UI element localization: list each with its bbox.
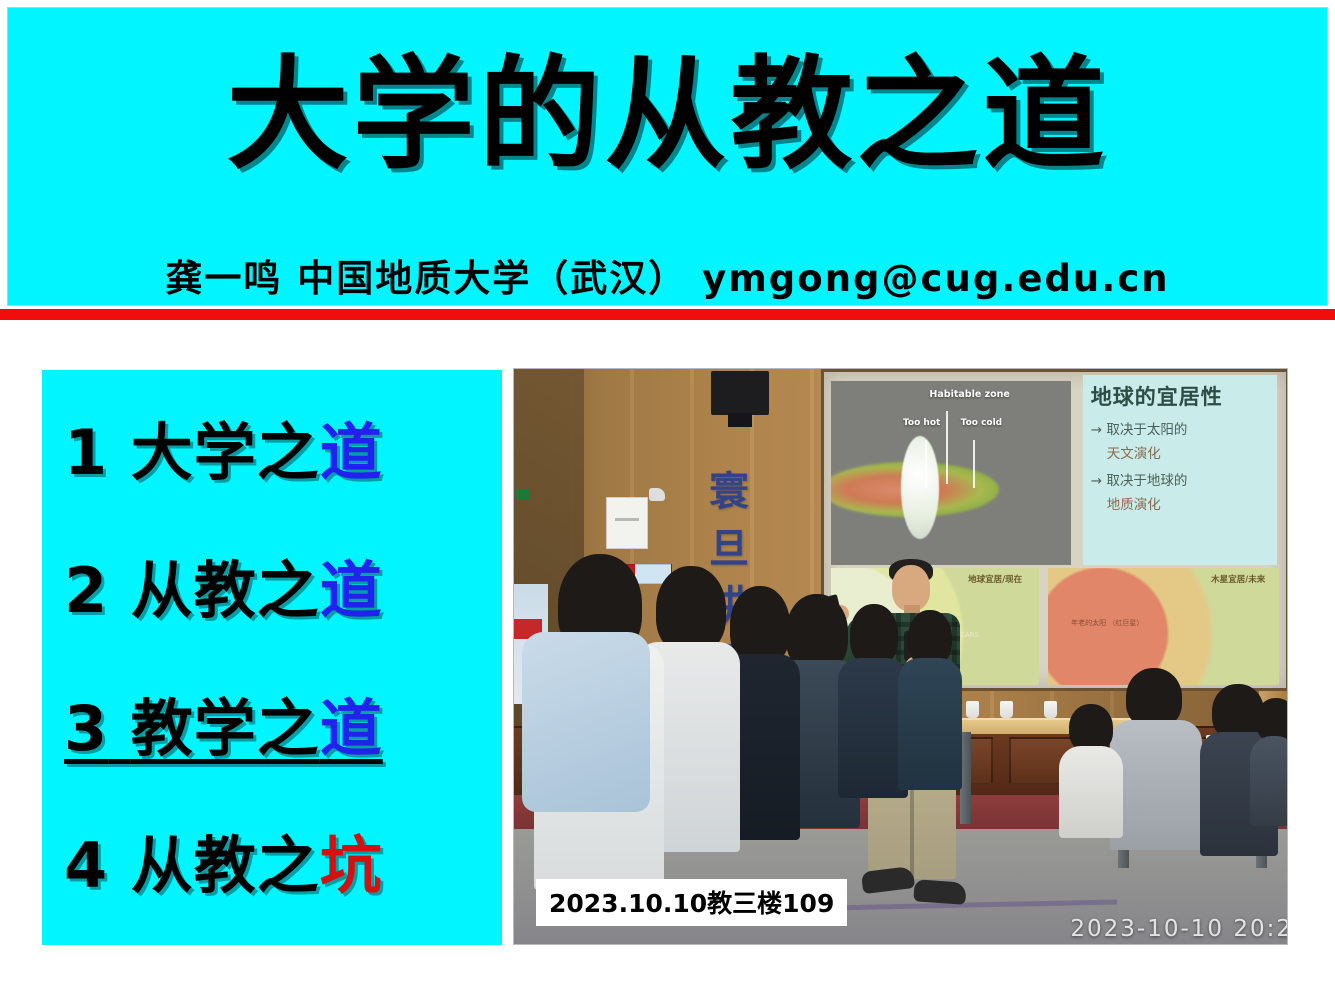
panel-jupiter-caption: 木星宜居/未来 [1211, 573, 1265, 585]
outline-item-4-number: 4 [64, 829, 108, 902]
student [1250, 698, 1288, 824]
projected-bullet-2: → 取决于地球的 [1091, 469, 1271, 489]
outline-item-3[interactable]: 3 教学之道 [42, 694, 502, 763]
projected-slide-text: 地球的宜居性 → 取决于太阳的 天文演化 → 取决于地球的 地质演化 [1083, 375, 1277, 565]
student-body [898, 658, 962, 790]
outline-item-3-accent: 道 [320, 692, 383, 765]
outline-item-2-accent: 道 [320, 554, 383, 627]
author-affiliation-line: 龚一鸣 中国地质大学（武汉） ymgong@cug.edu.cn [8, 248, 1327, 302]
outline-item-1-accent: 道 [320, 416, 383, 489]
outline-item-2-number: 2 [64, 554, 108, 627]
label-habitable-zone: Habitable zone [929, 389, 1009, 400]
photo-timestamp-watermark: 2023-10-10 20:2 [1070, 916, 1288, 942]
photo-caption: 2023.10.10教三楼109 [536, 879, 847, 926]
projected-bullet-1-line2: 天文演化 [1107, 442, 1271, 462]
student-head [850, 604, 898, 666]
bullet-1-line1: 取决于太阳的 [1106, 422, 1187, 438]
label-too-hot: Too hot [903, 418, 940, 428]
planet-icon [901, 436, 939, 539]
page-title: 大学的从教之道 [8, 50, 1327, 182]
zone-tick-1 [925, 440, 927, 488]
outline-item-1-text: 大学之 [131, 416, 320, 489]
bullet-1-marker: → [1091, 422, 1102, 438]
exit-sign-icon [516, 489, 530, 500]
student-head [1126, 668, 1182, 728]
cup [1000, 701, 1013, 718]
student-body [1059, 746, 1123, 838]
cup [1044, 701, 1057, 718]
projected-bullet-1: → 取决于太阳的 [1091, 418, 1271, 438]
outline-item-3-text: 教学之 [131, 692, 320, 765]
bullet-2-marker: → [1091, 473, 1102, 489]
outline-item-4-text: 从教之 [131, 829, 320, 902]
outline-item-4-accent: 坑 [320, 829, 383, 902]
cup [966, 701, 979, 718]
bullet-2-line1: 取决于地球的 [1106, 473, 1187, 489]
speaker-mount [728, 413, 752, 427]
student-body [1250, 736, 1288, 826]
outline-item-1-number: 1 [64, 416, 108, 489]
outline-item-4[interactable]: 4 从教之坑 [42, 831, 502, 900]
student-head [1069, 704, 1113, 752]
red-divider [0, 309, 1335, 320]
panel-earth-caption: 地球宜居/现在 [968, 573, 1022, 585]
ceiling-speaker-icon [711, 371, 769, 415]
projected-slide-title: 地球的宜居性 [1091, 381, 1271, 411]
security-camera-icon [649, 488, 665, 501]
outline-item-2-text: 从教之 [131, 554, 320, 627]
zone-tick-3 [973, 440, 975, 488]
outline-item-3-number: 3 [64, 692, 108, 765]
title-band: 大学的从教之道 龚一鸣 中国地质大学（武汉） ymgong@cug.edu.cn [7, 7, 1328, 306]
outline-item-2[interactable]: 2 从教之道 [42, 556, 502, 625]
zone-tick-2 [946, 411, 948, 484]
student [1110, 668, 1202, 848]
backpack [522, 632, 650, 812]
presenter-leg-separation [910, 777, 914, 881]
student-body [1110, 720, 1202, 850]
calligraphy-char-1: 寰 [709, 464, 749, 521]
panel-jupiter-note: 年老的太阳 （红巨星） [1071, 619, 1143, 628]
student [1059, 704, 1123, 834]
label-too-cold: Too cold [961, 418, 1003, 428]
presenter-right-shoe [913, 879, 966, 905]
outline-item-1[interactable]: 1 大学之道 [42, 418, 502, 487]
student-head [656, 566, 726, 654]
lecture-photo: 寰 旦 讲 坛 Habitable zone Too hot Too cold [513, 368, 1288, 945]
wall-notice-board [606, 497, 648, 549]
presentation-slide: 大学的从教之道 龚一鸣 中国地质大学（武汉） ymgong@cug.edu.cn… [0, 0, 1335, 995]
outline-panel: 1 大学之道 2 从教之道 3 教学之道 4 从教之坑 [42, 370, 502, 945]
projected-bullet-2-line2: 地质演化 [1107, 493, 1271, 513]
student [898, 610, 962, 786]
habitable-zone-diagram: Habitable zone Too hot Too cold [831, 381, 1071, 564]
